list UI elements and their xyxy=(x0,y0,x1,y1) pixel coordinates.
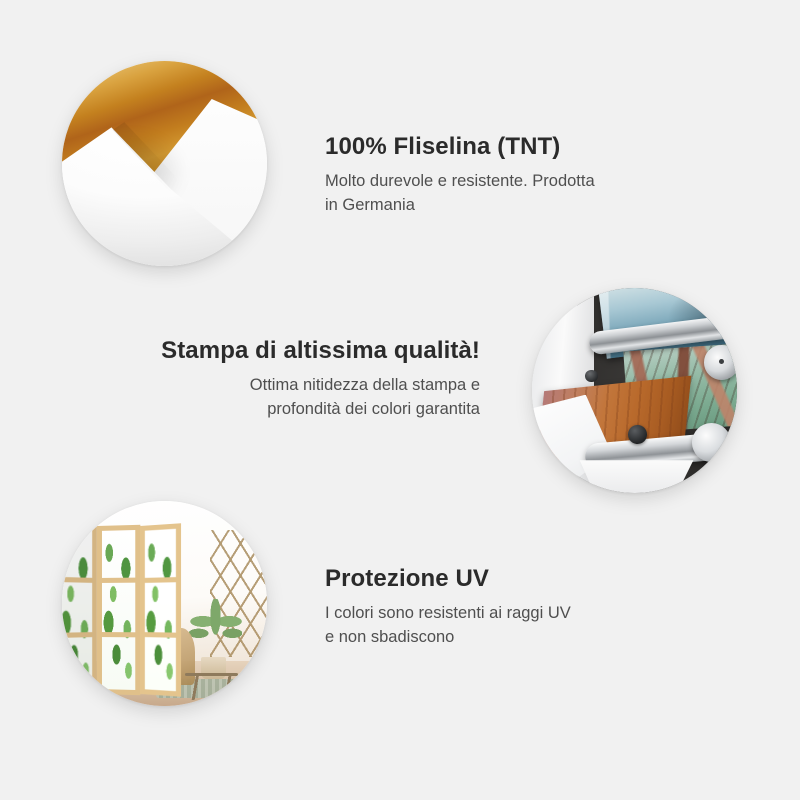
peeling-wallpaper-illustration xyxy=(62,61,267,266)
feature-desc-line-1: Ottima nitidezza della stampa e xyxy=(150,374,480,398)
feature-desc-line-2: in Germania xyxy=(325,194,685,218)
feature-image-stampa-qualita xyxy=(532,288,737,493)
feature-desc-line-1: Molto durevole e resistente. Prodotta xyxy=(325,170,685,194)
feature-text-stampa-qualita: Stampa di altissima qualità! Ottima niti… xyxy=(150,337,480,421)
feature-text-protezione-uv: Protezione UV I colori sono resistenti a… xyxy=(325,565,685,649)
feature-infographic-page: 100% Fliselina (TNT) Molto durevole e re… xyxy=(0,0,800,800)
feature-image-fliselina xyxy=(62,61,267,266)
printing-press-illustration xyxy=(532,288,737,493)
feature-title-protezione-uv: Protezione UV xyxy=(325,565,685,593)
feature-text-fliselina: 100% Fliselina (TNT) Molto durevole e re… xyxy=(325,133,685,217)
feature-desc-line-2: e non sbadiscono xyxy=(325,626,685,650)
feature-desc-line-1: I colori sono resistenti ai raggi UV xyxy=(325,602,685,626)
feature-image-protezione-uv xyxy=(62,501,267,706)
feature-desc-line-2: profondità dei colori garantita xyxy=(150,398,480,422)
feature-title-stampa-qualita: Stampa di altissima qualità! xyxy=(150,337,480,365)
feature-title-fliselina: 100% Fliselina (TNT) xyxy=(325,133,685,161)
tropical-room-divider-illustration xyxy=(62,501,267,706)
